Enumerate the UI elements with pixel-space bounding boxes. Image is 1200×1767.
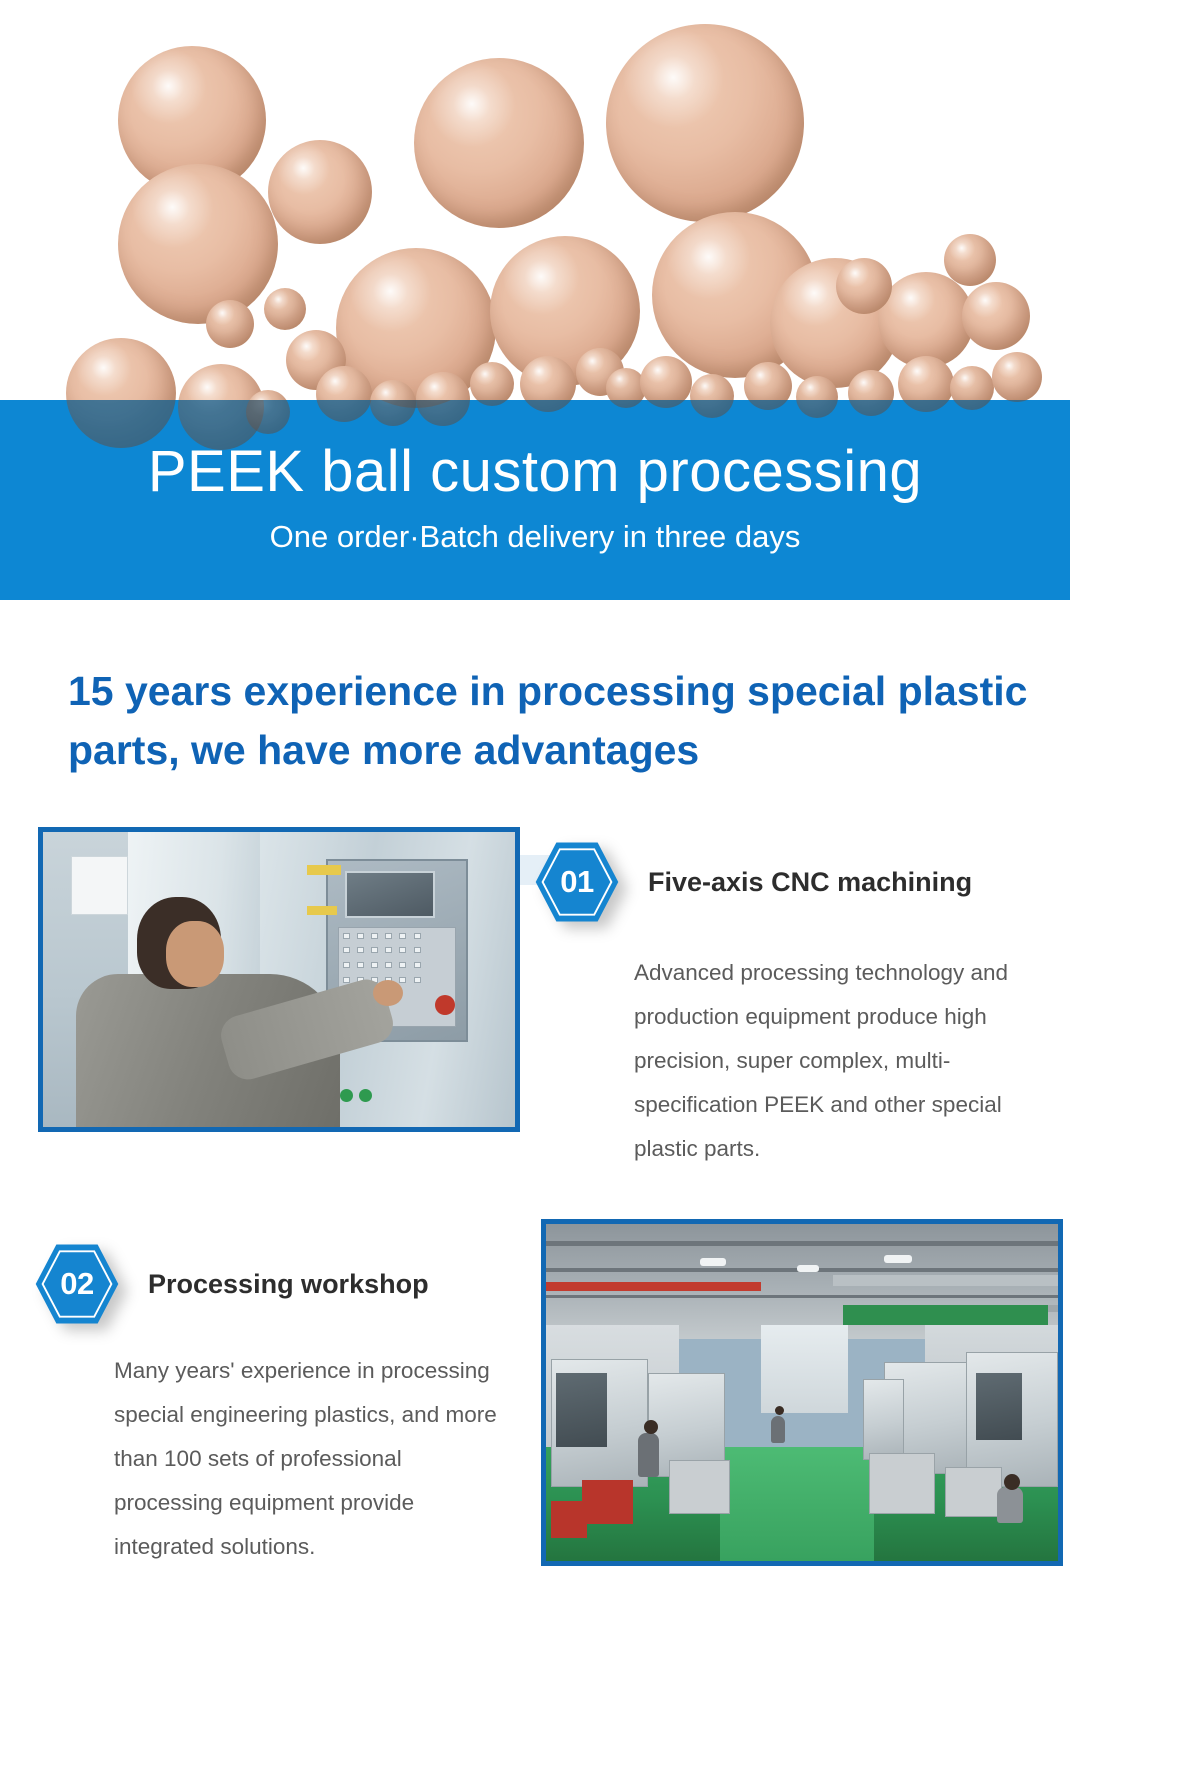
feature-number: 02	[34, 1241, 120, 1327]
hexagon-badge-icon: 02	[34, 1241, 120, 1327]
feature-block-02: 02 Processing workshop Many years' exper…	[0, 1219, 1200, 1619]
hero-title: PEEK ball custom processing	[0, 400, 1070, 503]
feature-02-heading-row: 02 Processing workshop	[34, 1241, 524, 1327]
feature-number: 01	[534, 839, 620, 925]
hero-banner: PEEK ball custom processing One order·Ba…	[0, 0, 1070, 600]
hero-subtitle: One order·Batch delivery in three days	[0, 503, 1070, 555]
feature-block-01: 01 Five-axis CNC machining Advanced proc…	[0, 827, 1200, 1147]
feature-02-photo	[541, 1219, 1063, 1566]
feature-02-title: Processing workshop	[148, 1269, 429, 1300]
section-headline: 15 years experience in processing specia…	[68, 662, 1048, 779]
feature-01-body: Advanced processing technology and produ…	[634, 951, 1064, 1170]
feature-02-body: Many years' experience in processing spe…	[114, 1349, 514, 1568]
feature-01-title: Five-axis CNC machining	[648, 867, 972, 898]
feature-01-photo	[38, 827, 520, 1132]
feature-01-heading-row: 01 Five-axis CNC machining	[534, 839, 1064, 925]
hexagon-badge-icon: 01	[534, 839, 620, 925]
